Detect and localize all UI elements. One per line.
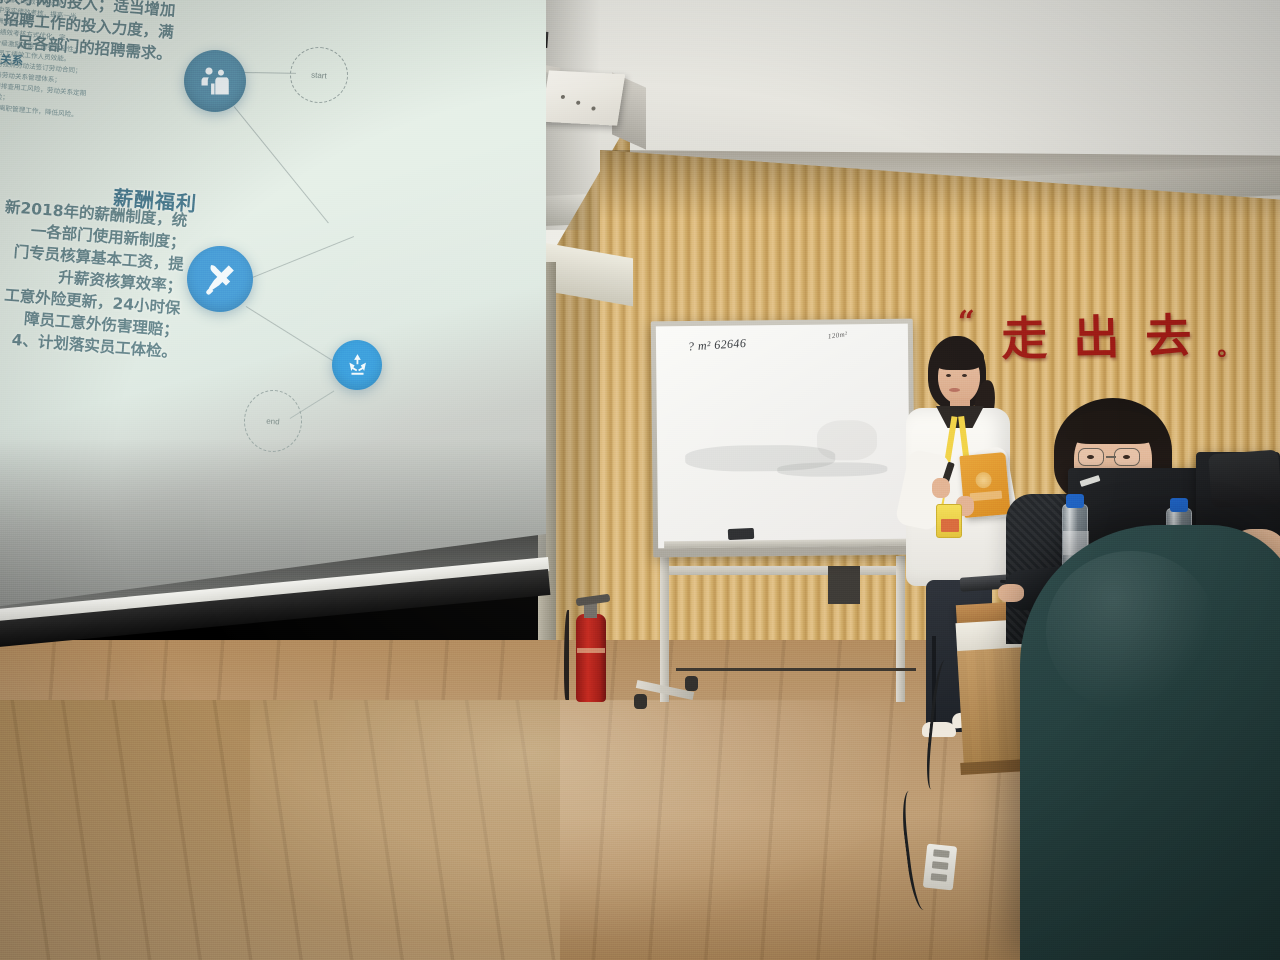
bottle-cap-left[interactable] [1066, 494, 1084, 508]
laptop-logo [1080, 475, 1101, 487]
tools-wrench-screwdriver-icon [187, 246, 253, 312]
whiteboard-caster-left [634, 694, 647, 709]
seated-eye-right [1123, 455, 1130, 459]
whiteboard-stand-crossbar [666, 566, 896, 575]
presenter-eye-right [962, 374, 967, 377]
whiteboard-note-main: ? m² 62646 [688, 336, 747, 355]
notebook-label [970, 491, 1003, 502]
extinguisher-hose [564, 610, 570, 700]
slide-body-text-block: 新2018年的薪酬制度，统 一各部门使用新制度； 门专员核算基本工资，提 升薪资… [0, 189, 188, 363]
presenter-eye-left [946, 374, 951, 377]
seated-bangs [1066, 410, 1160, 444]
notebook-emblem [975, 471, 992, 488]
chair-headrest[interactable] [1208, 450, 1280, 509]
floor-cable-horizontal [676, 668, 916, 678]
projection-screen: start end 量，_____标准； 对人才网的投入；适当增加 招聘工作的投… [0, 0, 560, 654]
bottle-cap-right[interactable] [1170, 498, 1188, 512]
presenter-id-badge [936, 504, 962, 538]
whiteboard-caster-mid [685, 676, 698, 691]
whiteboard-note-small: 120m² [827, 330, 848, 341]
whiteboard-stand-leg-left [660, 556, 669, 702]
fire-extinguisher [566, 596, 616, 708]
conference-room-photo: start end 量，_____标准； 对人才网的投入；适当增加 招聘工作的投… [0, 0, 1280, 960]
calligraphy-open-quote: “ [957, 305, 975, 340]
calligraphy-period: 。 [1217, 330, 1240, 362]
whiteboard-smudge [777, 462, 887, 477]
whiteboard-surface: ? m² 62646 120m² [656, 324, 910, 549]
connector-tools-performance [250, 236, 354, 279]
wall-shadow [600, 150, 1280, 220]
whiteboard-stand-clamp [828, 566, 860, 604]
recycle-icon [332, 340, 382, 390]
floor-light-reflection [250, 700, 950, 960]
group-lines-labor-relations: 1、每月按照劳动法签订劳动合同； 2、完善劳动关系管理体系； 3、全面排查用工风… [0, 57, 99, 122]
whiteboard: ? m² 62646 120m² [651, 319, 915, 558]
whiteboard-pen-tray [664, 539, 914, 549]
whiteboard-smudge [817, 420, 877, 461]
presenter-mouth [949, 388, 960, 392]
foreground-shoulder-highlight [1046, 551, 1216, 711]
presenter-hand-left [932, 478, 950, 498]
whiteboard-marker[interactable] [728, 528, 754, 540]
glasses-bridge [1106, 456, 1116, 458]
calligraphy-char-2: 出 [1073, 301, 1120, 368]
extinguisher-band [577, 648, 605, 653]
presenter-hair-front [932, 344, 984, 370]
calligraphy-char-3: 去 [1145, 300, 1192, 367]
extinguisher-body [576, 614, 606, 702]
seated-eye-left [1087, 455, 1094, 459]
power-strip[interactable] [923, 844, 957, 891]
badge-photo-strip [941, 519, 959, 532]
foreground-attendee-person [1020, 525, 1280, 960]
connector-tools-recycle [246, 306, 336, 363]
